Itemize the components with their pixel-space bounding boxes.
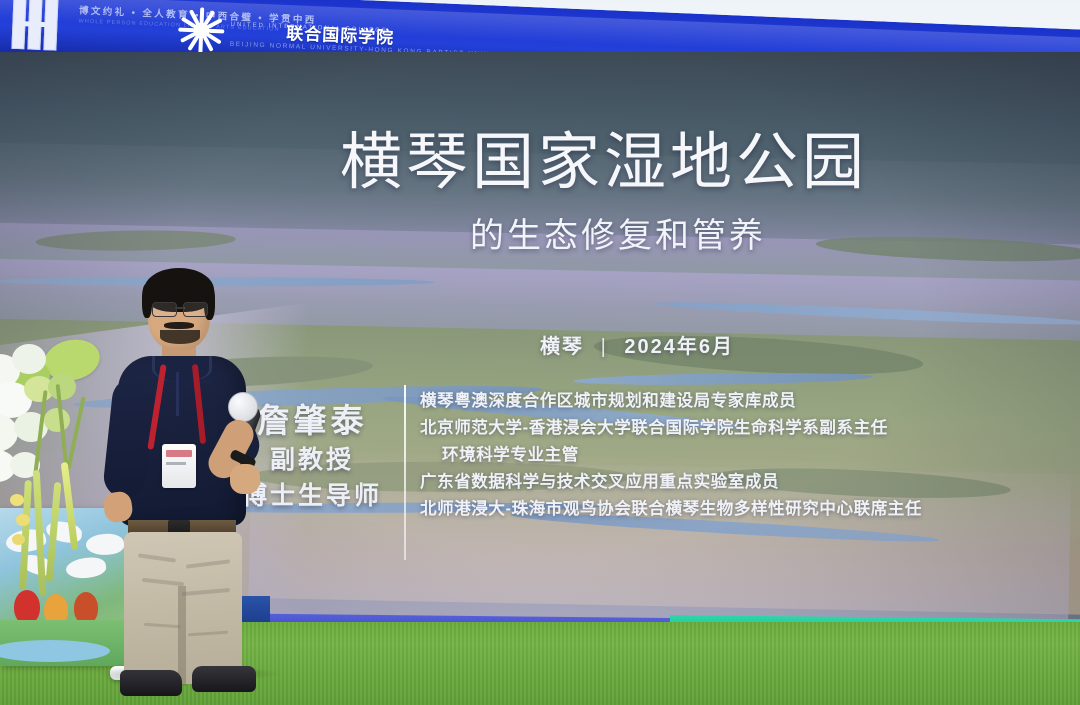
microphone-head	[228, 392, 258, 422]
screenshot-root: 博文约礼 • 全人教育 • 中西合璧 • 学贯中西 WHOLE PERSON E…	[0, 0, 1080, 705]
credential-item: 横琴粤澳深度合作区城市规划和建设局专家库成员	[420, 388, 1060, 415]
credential-item: 北师港浸大-珠海市观鸟协会联合横琴生物多样性研究中心联席主任	[420, 496, 1060, 523]
presenter-leg-gap	[178, 586, 186, 686]
presenter-right-hand	[230, 464, 260, 494]
credentials-list: 横琴粤澳深度合作区城市规划和建设局专家库成员 北京师范大学-香港浸会大学联合国际…	[420, 388, 1060, 523]
slide-location: 横琴	[540, 336, 584, 358]
credential-item: 环境科学专业主管	[420, 442, 1060, 469]
presenter-moustache	[164, 322, 194, 329]
credential-item: 广东省数据科学与技术交叉应用重点实验室成员	[420, 469, 1060, 496]
glasses-icon	[152, 302, 208, 315]
credential-item: 北京师范大学-香港浸会大学联合国际学院生命科学系副系主任	[420, 415, 1060, 442]
presenter-right-shoe	[192, 666, 256, 692]
presenter-beard	[160, 330, 200, 344]
presenter-figure	[96, 268, 266, 678]
slide-date: 2024年6月	[624, 336, 734, 358]
uic-h-logo	[11, 0, 58, 51]
name-badge	[162, 444, 196, 488]
presenter-hair-side	[142, 284, 152, 318]
presenter-left-shoe	[120, 670, 182, 696]
slide-subtitle: 的生态修复和管养	[470, 215, 990, 257]
presenter-placket	[176, 372, 179, 416]
slide-title: 横琴国家湿地公园	[340, 127, 960, 199]
slide-location-date: 横琴 | 2024年6月	[540, 330, 734, 359]
vertical-divider	[404, 385, 406, 560]
slide-separator: |	[601, 336, 608, 359]
starburst-icon	[175, 5, 227, 57]
